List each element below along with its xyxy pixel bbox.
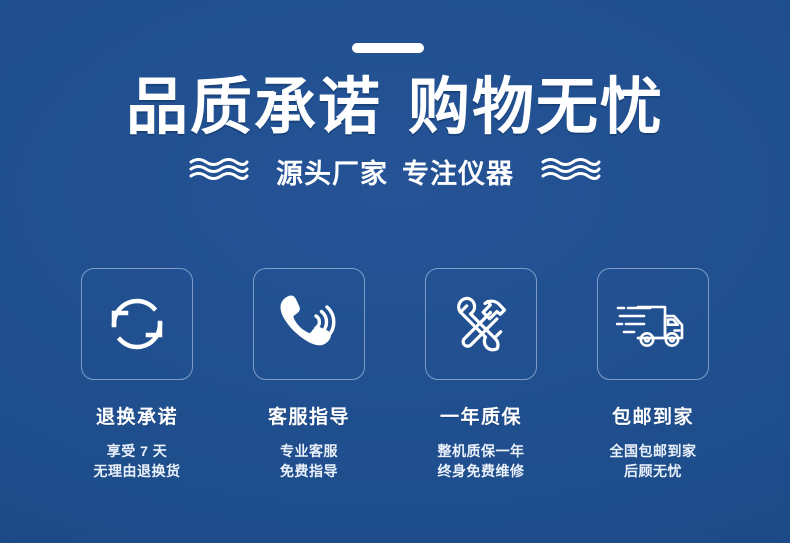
subtitle-part-1: 源头厂家 (276, 159, 388, 189)
card-subtitle: 整机质保一年 终身免费维修 (438, 441, 525, 481)
top-dash-icon (352, 43, 424, 53)
feature-card-list: 退换承诺 享受 7 天 无理由退换货 (0, 268, 790, 481)
icon-box-return (81, 268, 193, 380)
card-subtitle: 全国包邮到家 后顾无忧 (610, 441, 697, 481)
card-sub-line-2: 无理由退换货 (94, 461, 181, 481)
delivery-truck-icon (616, 296, 690, 352)
card-sub-line-2: 免费指导 (280, 461, 338, 481)
page-subtitle: 源头厂家专注仪器 (276, 152, 514, 191)
card-title: 一年质保 (440, 402, 522, 429)
icon-box-shipping (597, 268, 709, 380)
card-sub-line-1: 专业客服 (280, 441, 338, 461)
headline-part-1: 品质承诺 (126, 73, 382, 142)
headline-part-2: 购物无忧 (408, 73, 664, 142)
subtitle-row: 源头厂家专注仪器 (0, 152, 790, 191)
phone-call-icon (276, 291, 342, 357)
feature-card-support[interactable]: 客服指导 专业客服 免费指导 (223, 268, 395, 481)
icon-box-warranty (425, 268, 537, 380)
feature-card-shipping[interactable]: 包邮到家 全国包邮到家 后顾无忧 (567, 268, 739, 481)
card-sub-line-1: 全国包邮到家 (610, 441, 697, 461)
card-title: 退换承诺 (96, 402, 178, 429)
subtitle-part-2: 专注仪器 (402, 159, 514, 189)
feature-card-return[interactable]: 退换承诺 享受 7 天 无理由退换货 (51, 268, 223, 481)
card-subtitle: 享受 7 天 无理由退换货 (94, 441, 181, 481)
card-title: 包邮到家 (612, 402, 694, 429)
card-subtitle: 专业客服 免费指导 (280, 441, 338, 481)
wave-right-icon (540, 156, 602, 187)
icon-box-support (253, 268, 365, 380)
card-sub-line-1: 整机质保一年 (438, 441, 525, 461)
page-title: 品质承诺购物无忧 (0, 74, 790, 142)
card-sub-line-1: 享受 7 天 (94, 441, 181, 461)
hammer-wrench-icon (449, 292, 513, 356)
wave-left-icon (188, 156, 250, 187)
exchange-arrows-icon (104, 291, 170, 357)
feature-card-warranty[interactable]: 一年质保 整机质保一年 终身免费维修 (395, 268, 567, 481)
card-sub-line-2: 后顾无忧 (610, 461, 697, 481)
card-sub-line-2: 终身免费维修 (438, 461, 525, 481)
service-promise-banner: 品质承诺购物无忧 源头厂家专注仪器 (0, 0, 790, 543)
card-title: 客服指导 (268, 402, 350, 429)
